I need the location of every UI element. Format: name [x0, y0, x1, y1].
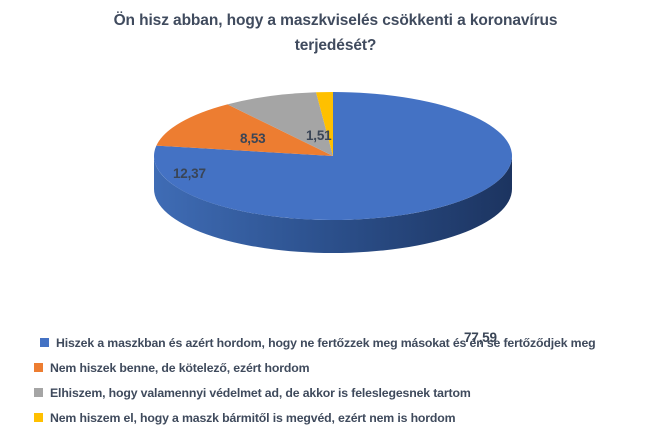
legend-swatch-icon-2 — [34, 363, 43, 372]
pie-3d-svg — [0, 60, 671, 310]
pie-plot-area: 77,59 12,37 8,53 1,51 — [0, 60, 671, 310]
legend-label-4: Nem hiszem el, hogy a maszk bármitől is … — [50, 411, 455, 425]
pie-top-faces — [154, 92, 512, 220]
chart-title: Ön hisz abban, hogy a maszkviselés csökk… — [40, 8, 631, 58]
chart-title-line-2: terjedését? — [295, 37, 377, 54]
legend-item-3[interactable]: Elhiszem, hogy valamennyi védelmet ad, d… — [34, 380, 644, 405]
legend-item-4[interactable]: Nem hiszem el, hogy a maszk bármitől is … — [34, 405, 644, 430]
legend-item-2[interactable]: Nem hiszek benne, de kötelező, ezért hor… — [34, 355, 644, 380]
legend-swatch-icon-4 — [34, 413, 43, 422]
data-label-slice-4: 1,51 — [306, 128, 331, 143]
chart-title-line-1: Ön hisz abban, hogy a maszkviselés csökk… — [114, 12, 558, 29]
data-label-slice-3: 8,53 — [240, 131, 265, 146]
legend-label-2: Nem hiszek benne, de kötelező, ezért hor… — [50, 361, 309, 375]
legend-label-3: Elhiszem, hogy valamennyi védelmet ad, d… — [50, 386, 471, 400]
data-label-slice-2: 12,37 — [173, 166, 206, 181]
legend-item-1[interactable]: Hiszek a maszkban és azért hordom, hogy … — [34, 330, 644, 355]
legend-swatch-icon-3 — [34, 388, 43, 397]
chart-legend: Hiszek a maszkban és azért hordom, hogy … — [34, 330, 644, 430]
pie-chart-figure: Ön hisz abban, hogy a maszkviselés csökk… — [0, 0, 671, 435]
legend-swatch-icon-1 — [40, 338, 49, 347]
legend-label-1: Hiszek a maszkban és azért hordom, hogy … — [56, 336, 596, 350]
